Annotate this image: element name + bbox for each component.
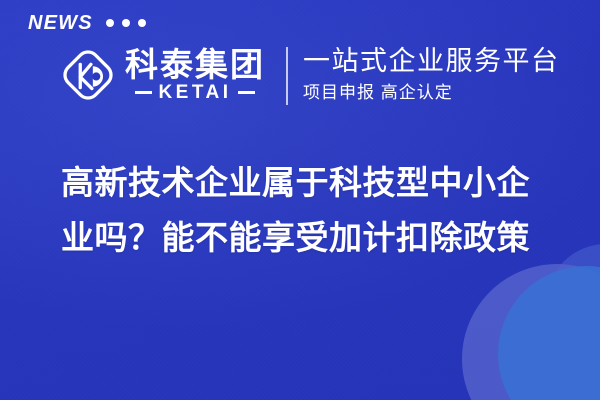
headline-block: 高新技术企业属于科技型中小企 业吗？能不能享受加计扣除政策 (61, 155, 530, 265)
header-divider (286, 47, 288, 105)
tagline-main: 一站式企业服务平台 (303, 46, 560, 78)
ketai-diamond-monogram-icon (57, 44, 119, 106)
brand-logo: 科泰集团 KETAI (57, 44, 265, 106)
wordmark-rule-left (135, 91, 152, 94)
wordmark-rule-right (238, 91, 255, 94)
brand-name-en-row: KETAI (125, 83, 265, 102)
brand-name-en: KETAI (158, 83, 231, 102)
news-label: NEWS (28, 13, 93, 33)
tagline-sub: 项目申报 高企认定 (303, 82, 560, 103)
headline-line-1: 高新技术企业属于科技型中小企 (61, 155, 530, 210)
news-banner: NEWS 科泰集团 KETAI (0, 0, 600, 400)
news-tag: NEWS (28, 13, 146, 33)
news-dots-icon (106, 19, 146, 27)
headline-line-2: 业吗？能不能享受加计扣除政策 (61, 210, 530, 265)
tagline-block: 一站式企业服务平台 项目申报 高企认定 (303, 46, 560, 103)
brand-logo-wordmark: 科泰集团 KETAI (125, 48, 265, 103)
brand-name-cn: 科泰集团 (125, 48, 265, 83)
